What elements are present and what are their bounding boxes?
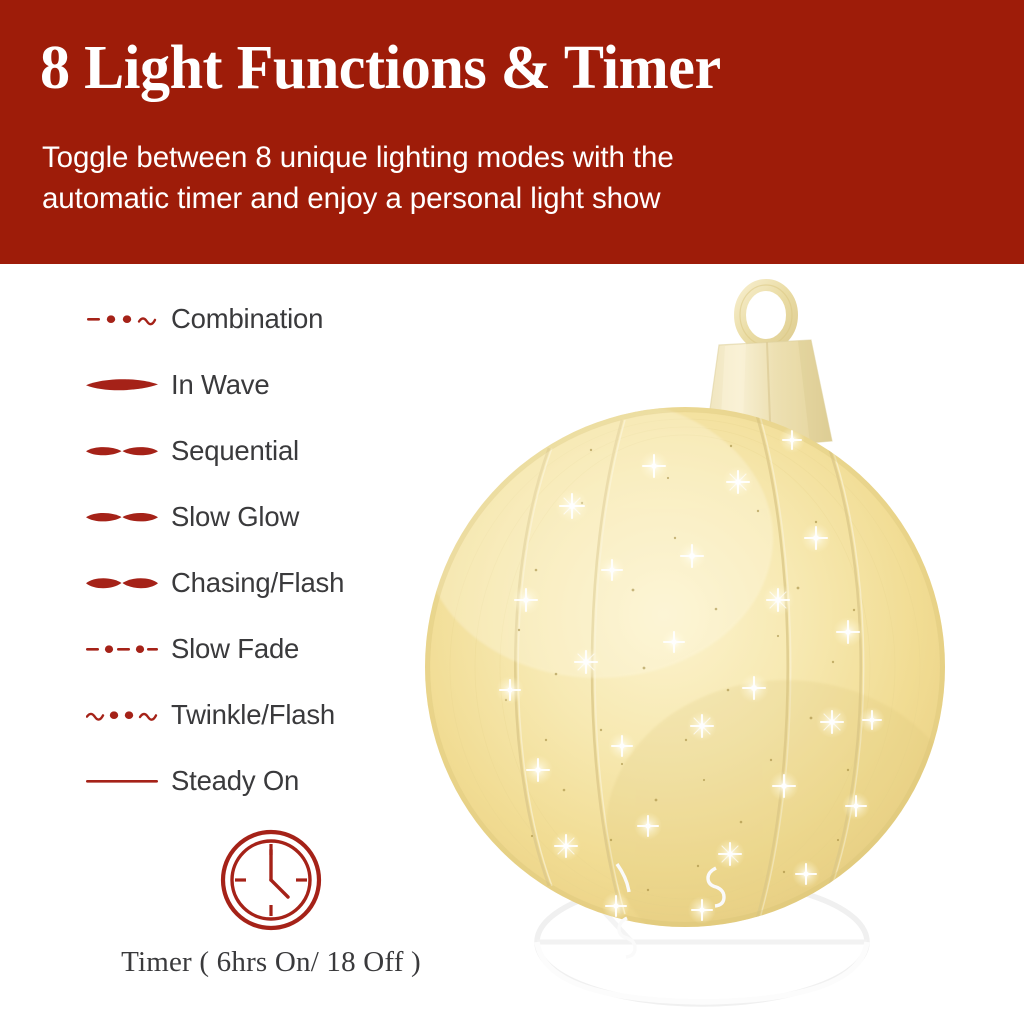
lighted-ornament-ball [386,270,1024,1024]
list-item-label: Chasing/Flash [171,567,344,599]
double-lens-icon [86,503,158,531]
header-banner: 8 Light Functions & Timer Toggle between… [0,0,1024,264]
list-item-label: Steady On [171,765,299,797]
subtitle-line-1: Toggle between 8 unique lighting modes w… [42,141,674,174]
subtitle-line-2: automatic timer and enjoy a personal lig… [42,179,942,220]
list-item-label: Slow Fade [171,633,299,665]
double-lens-icon [86,437,158,465]
clock-icon [219,828,323,932]
dash-dot-dash-dot-icon [86,635,158,663]
ornament-ball-body [423,398,966,980]
list-item-label: Slow Glow [171,501,299,533]
list-item-label: Combination [171,303,323,335]
page-subtitle: Toggle between 8 unique lighting modes w… [42,138,942,219]
product-feature-graphic: 8 Light Functions & Timer Toggle between… [0,0,1024,1024]
double-lens-thick-icon [86,569,158,597]
list-item-label: Twinkle/Flash [171,699,335,731]
dash-dot-dot-wave-icon [86,305,158,333]
single-long-lens-icon [86,371,158,399]
list-item-label: Sequential [171,435,299,467]
solid-line-icon [86,767,158,795]
page-title: 8 Light Functions & Timer [40,36,952,100]
list-item-label: In Wave [171,369,269,401]
wave-dot-dot-wave-icon [86,701,158,729]
product-image [386,270,1024,1024]
